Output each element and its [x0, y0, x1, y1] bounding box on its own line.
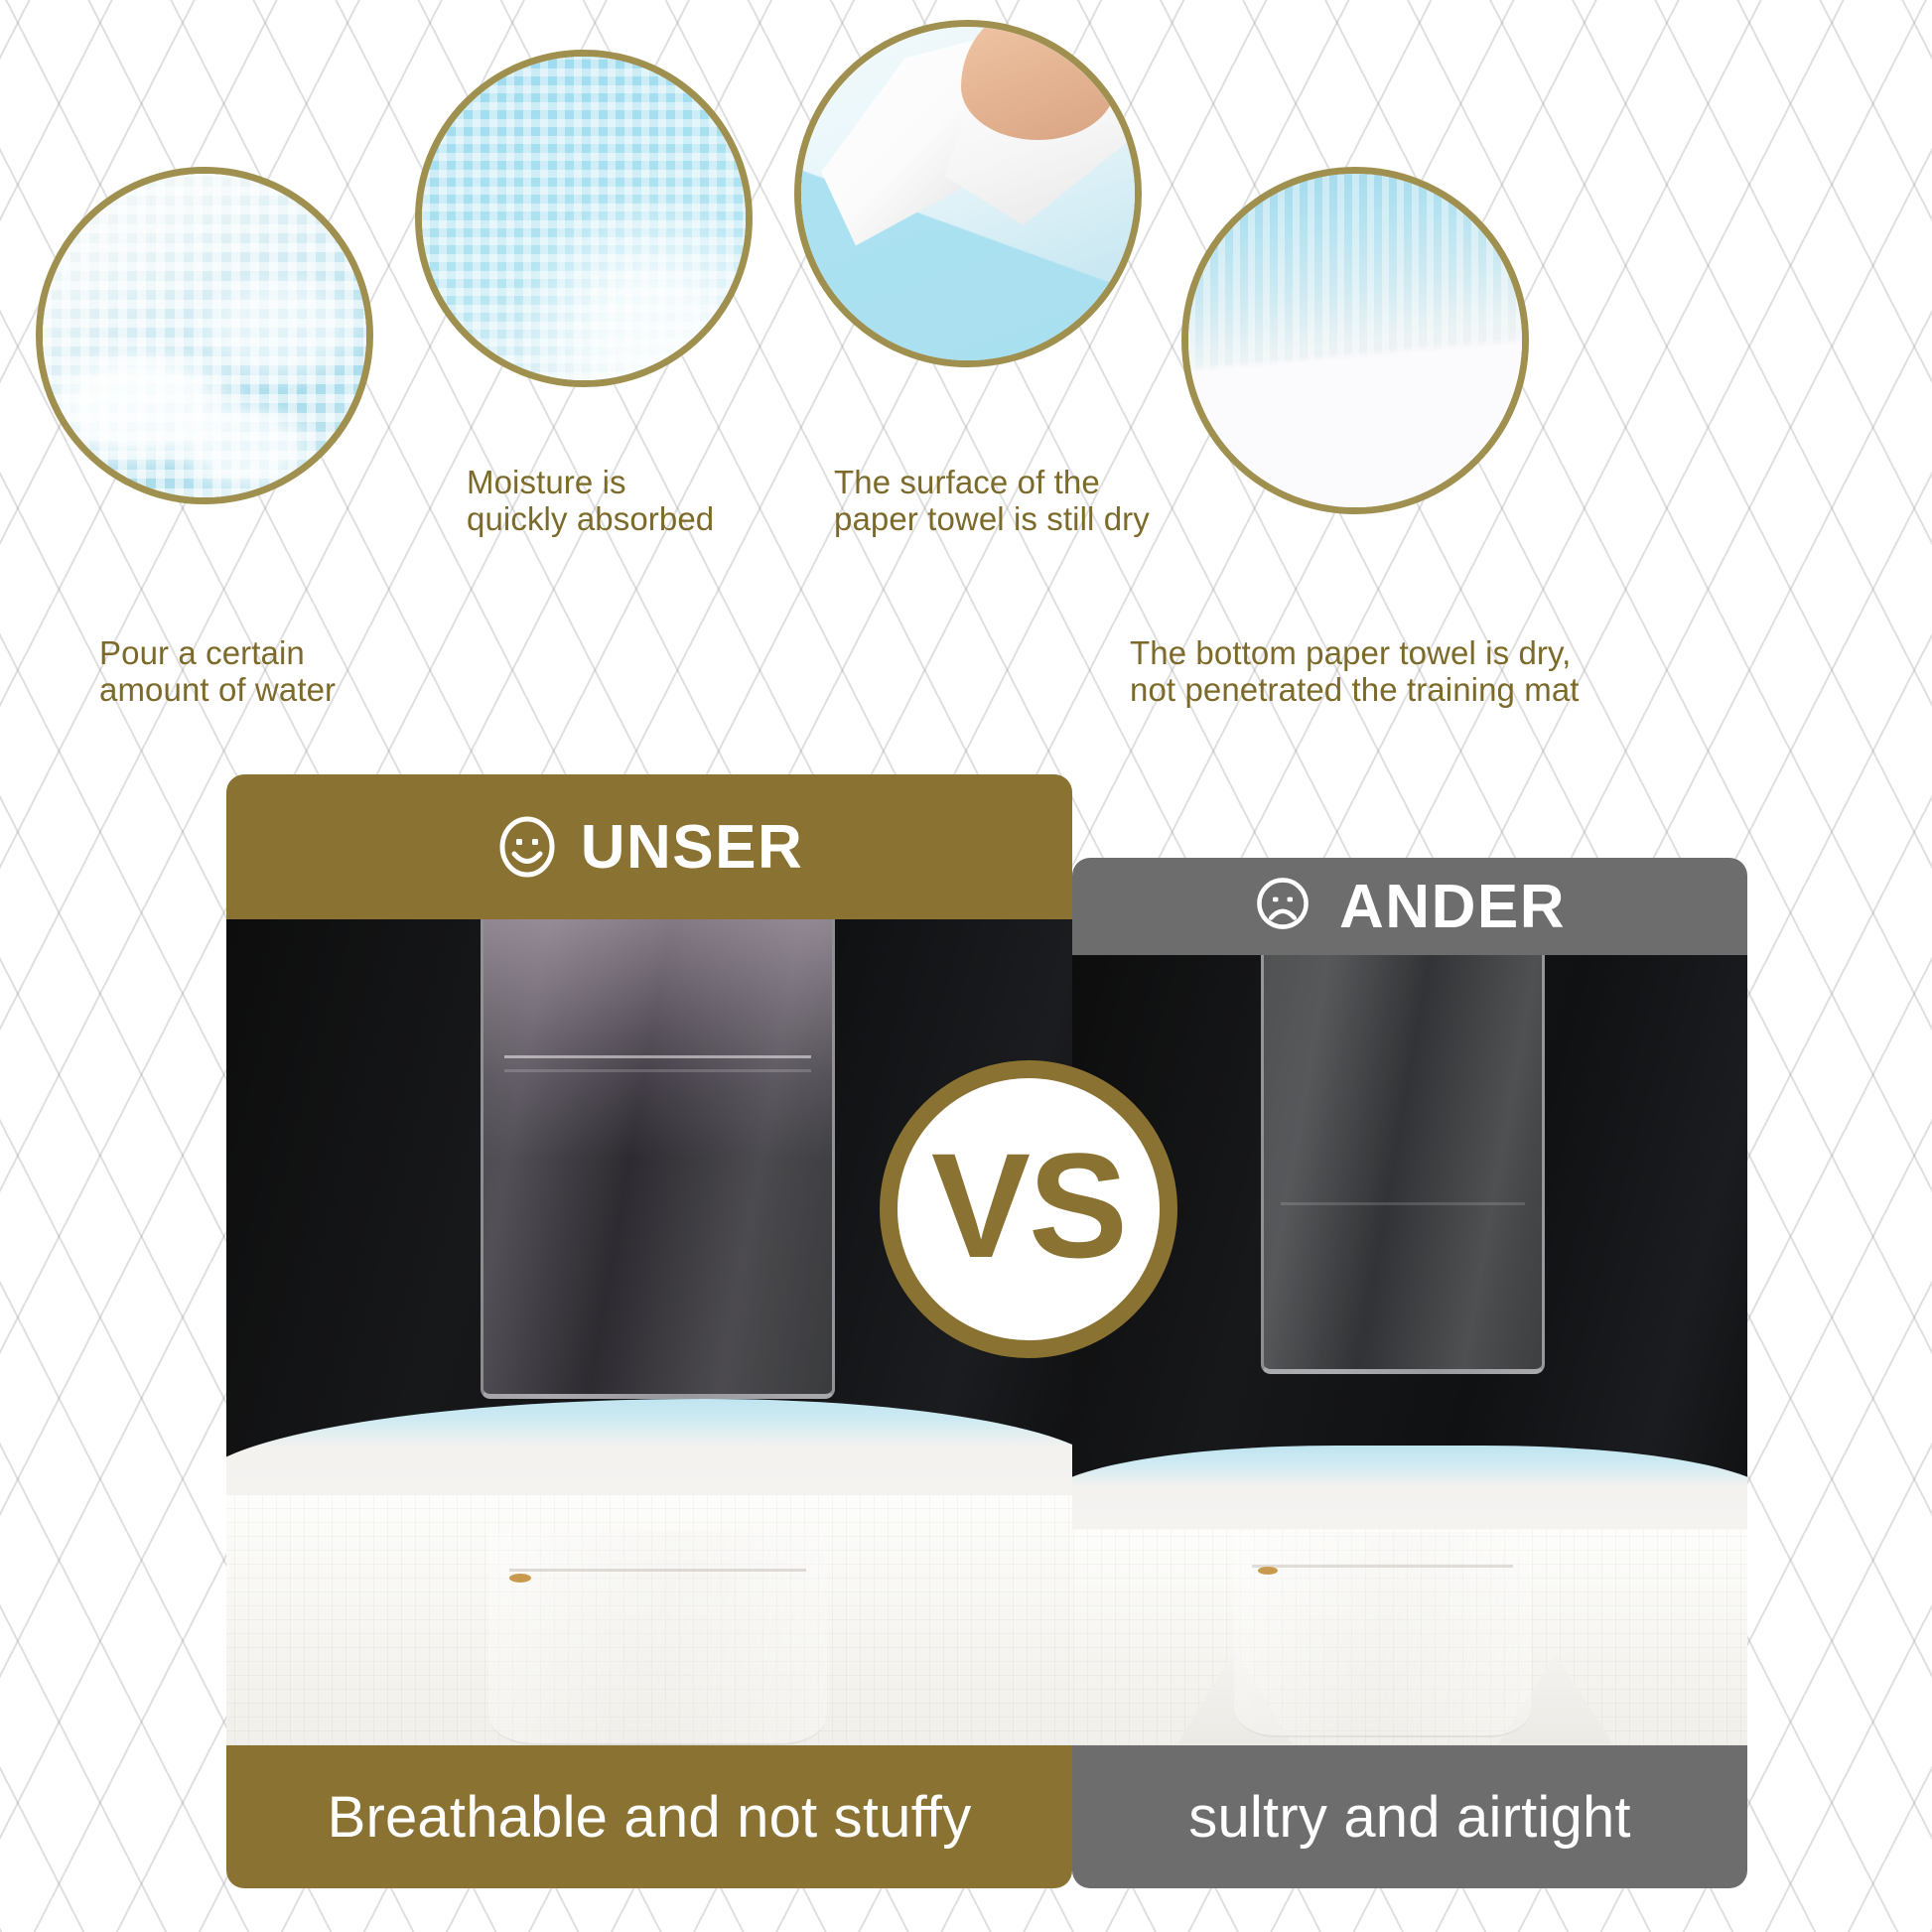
bad-footer-bar: sultry and airtight — [1072, 1745, 1747, 1888]
step-circle-3 — [794, 20, 1142, 367]
bad-header-label: ANDER — [1339, 872, 1566, 942]
glass-cup-lower — [488, 1531, 827, 1745]
comparison-side-bad: ANDER sultry an — [1072, 858, 1747, 1888]
sad-face-icon — [1254, 875, 1317, 938]
water-poured-on-mat-photo — [43, 174, 366, 497]
fingernail — [1070, 20, 1096, 39]
water-surface-line — [504, 1055, 812, 1058]
vs-label: VS — [931, 1131, 1126, 1280]
step-caption-4: The bottom paper towel is dry, not penet… — [1130, 635, 1932, 709]
vs-badge: VS — [880, 1060, 1177, 1358]
moisture-absorbed-mat-photo — [422, 57, 746, 380]
condensation-haze — [483, 919, 833, 1158]
good-header-label: UNSER — [581, 812, 804, 883]
bad-header-bar: ANDER — [1072, 858, 1747, 955]
smiley-face-icon — [495, 815, 559, 879]
infographic-stage: Pour a certain amount of water Moisture … — [0, 0, 1932, 1932]
bad-photo — [1072, 955, 1747, 1745]
step-caption-1: Pour a certain amount of water — [99, 635, 516, 709]
debris-speck-2 — [1258, 1567, 1278, 1575]
lower-water-line — [509, 1569, 807, 1572]
debris-speck — [509, 1574, 531, 1583]
water-surface-line-2 — [504, 1069, 812, 1072]
bad-footer-label: sultry and airtight — [1188, 1784, 1630, 1851]
step-circle-4 — [1181, 167, 1529, 514]
step-circle-2 — [415, 50, 753, 387]
step-circle-1 — [36, 167, 373, 504]
water-surface-line-3 — [1281, 1202, 1525, 1205]
lower-water-line-2 — [1252, 1565, 1513, 1568]
step-caption-2: Moisture is quickly absorbed — [467, 465, 844, 538]
hand-lifting-paper-towel-photo — [801, 27, 1135, 360]
dry-bottom-paper-towel-photo — [1188, 174, 1522, 507]
glass-cup-upper-2 — [1261, 955, 1545, 1374]
glass-cup-lower-2 — [1234, 1532, 1531, 1737]
good-footer-bar: Breathable and not stuffy — [226, 1745, 1072, 1888]
good-header-bar: UNSER — [226, 774, 1072, 919]
finger-icon — [961, 20, 1115, 140]
airtight-mat-glass-test-photo — [1072, 955, 1747, 1745]
comparison-module: UNSER — [0, 774, 1932, 1906]
glass-cup-upper — [481, 919, 836, 1399]
good-footer-label: Breathable and not stuffy — [328, 1784, 972, 1851]
